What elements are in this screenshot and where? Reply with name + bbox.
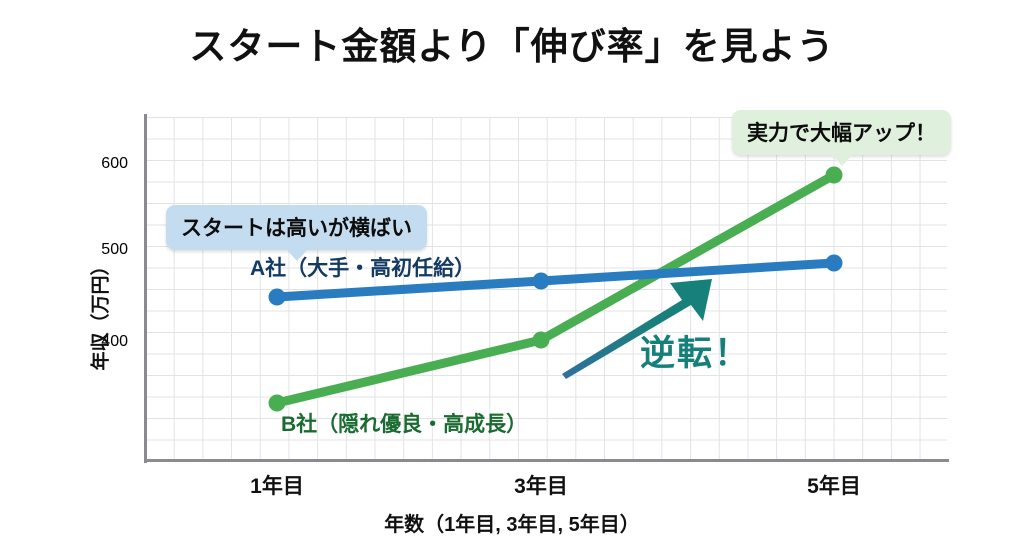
series-a-label: A社（大手・高初任給） [250, 252, 475, 282]
callout-series-b-text: 実力で大幅アップ！ [747, 122, 936, 145]
series-b-point-3 [826, 167, 843, 184]
series-b-point-2 [533, 332, 550, 349]
series-layer [0, 0, 1024, 559]
series-b-label: B社（隠れ優良・高成長） [281, 408, 527, 438]
series-a-point-1 [269, 289, 286, 306]
callout-tail-icon [831, 154, 853, 166]
callout-series-a: スタートは高いが横ばい [166, 205, 427, 250]
series-a-point-3 [826, 255, 843, 272]
callout-series-a-text: スタートは高いが横ばい [181, 217, 412, 240]
callout-tail-icon [286, 249, 308, 261]
chart-canvas: スタート金額より「伸び率」を見よう 600 500 400 年収（万円） 1年目… [0, 0, 1024, 559]
reversal-label: 逆転！ [640, 325, 751, 376]
callout-series-b: 実力で大幅アップ！ [732, 110, 951, 155]
series-a-point-2 [533, 273, 550, 290]
